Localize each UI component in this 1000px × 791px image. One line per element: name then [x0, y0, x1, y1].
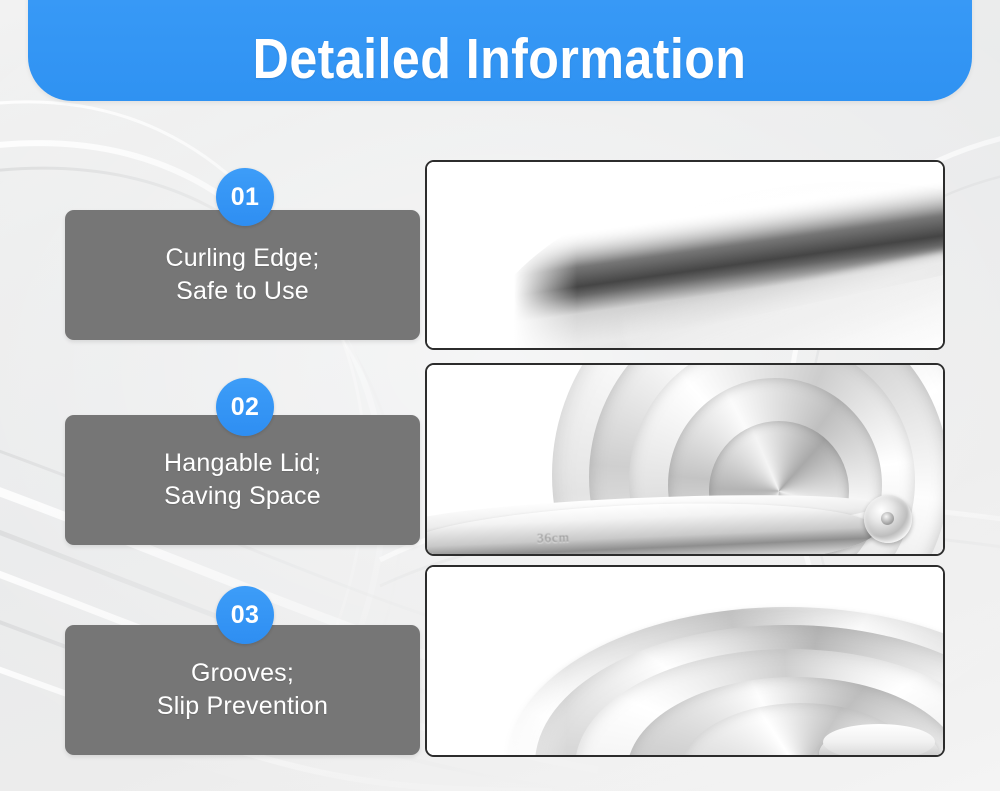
lid-wooden-knob-base	[819, 727, 939, 755]
feature-number-badge-02: 02	[216, 378, 274, 436]
feature-number-badge-01: 01	[216, 168, 274, 226]
feature-label-line1-01: Curling Edge;	[165, 242, 319, 275]
curled-rim-closeup-photo	[427, 162, 943, 348]
feature-label-line2-02: Saving Space	[164, 480, 321, 513]
header-banner: Detailed Information	[28, 0, 972, 101]
infographic-page: Detailed Information Curling Edge; Safe …	[0, 0, 1000, 791]
feature-photo-card-03	[425, 565, 945, 757]
groove-top-fade-mask	[427, 567, 943, 611]
lid-knob	[864, 495, 912, 543]
rim-left-fade-mask	[427, 162, 577, 348]
feature-label-line2-01: Safe to Use	[176, 275, 309, 308]
feature-photo-card-02: 36cm	[425, 363, 945, 556]
lid-size-engraving: 36cm	[537, 529, 570, 546]
feature-photo-card-01	[425, 160, 945, 350]
feature-label-line2-03: Slip Prevention	[157, 690, 328, 723]
hangable-lid-photo: 36cm	[427, 365, 943, 554]
feature-label-panel-01: Curling Edge; Safe to Use	[65, 210, 420, 340]
feature-label-line1-02: Hangable Lid;	[164, 447, 321, 480]
page-title: Detailed Information	[253, 31, 747, 88]
feature-number-badge-03: 03	[216, 586, 274, 644]
grooved-lid-photo	[427, 567, 943, 755]
feature-label-line1-03: Grooves;	[191, 657, 294, 690]
feature-label-panel-03: Grooves; Slip Prevention	[65, 625, 420, 755]
